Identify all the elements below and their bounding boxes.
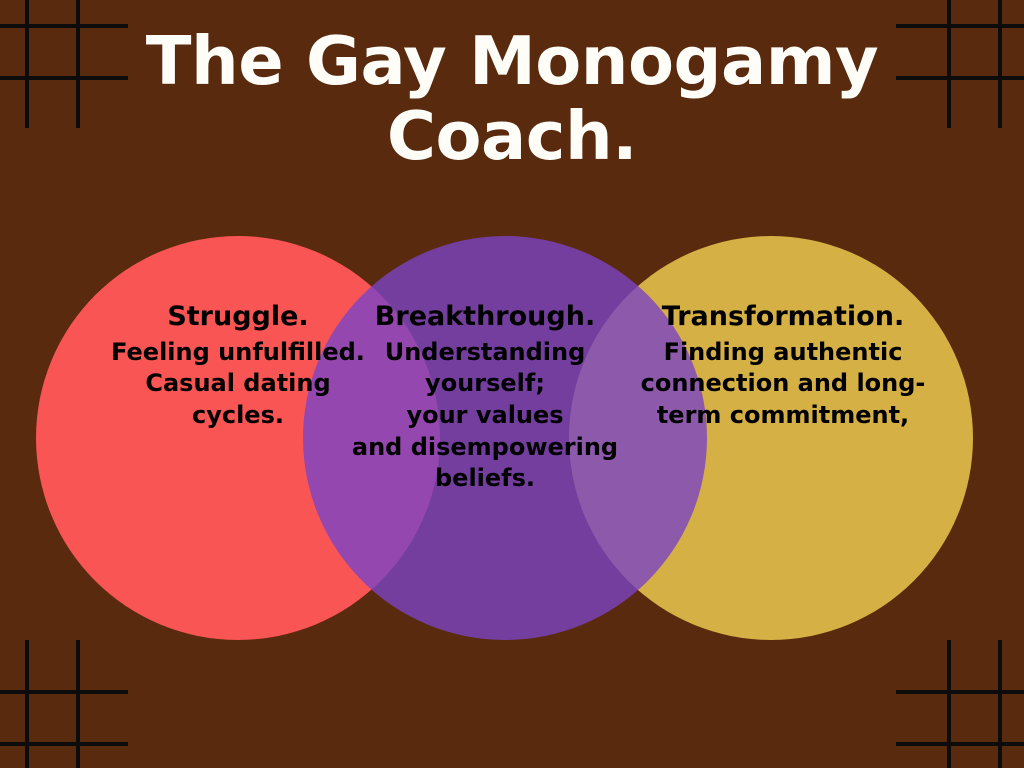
venn-label-transformation: Transformation. Finding authentic connec… [628,300,938,432]
venn-heading-transformation: Transformation. [628,300,938,335]
venn-body-transformation: Finding authentic connection and long- t… [628,337,938,432]
venn-label-breakthrough: Breakthrough. Understanding yourself; yo… [340,300,630,495]
poster-canvas: The Gay Monogamy Coach. Struggle. Feelin… [0,0,1024,768]
venn-body-breakthrough: Understanding yourself; your values and … [340,337,630,495]
venn-heading-breakthrough: Breakthrough. [340,300,630,335]
